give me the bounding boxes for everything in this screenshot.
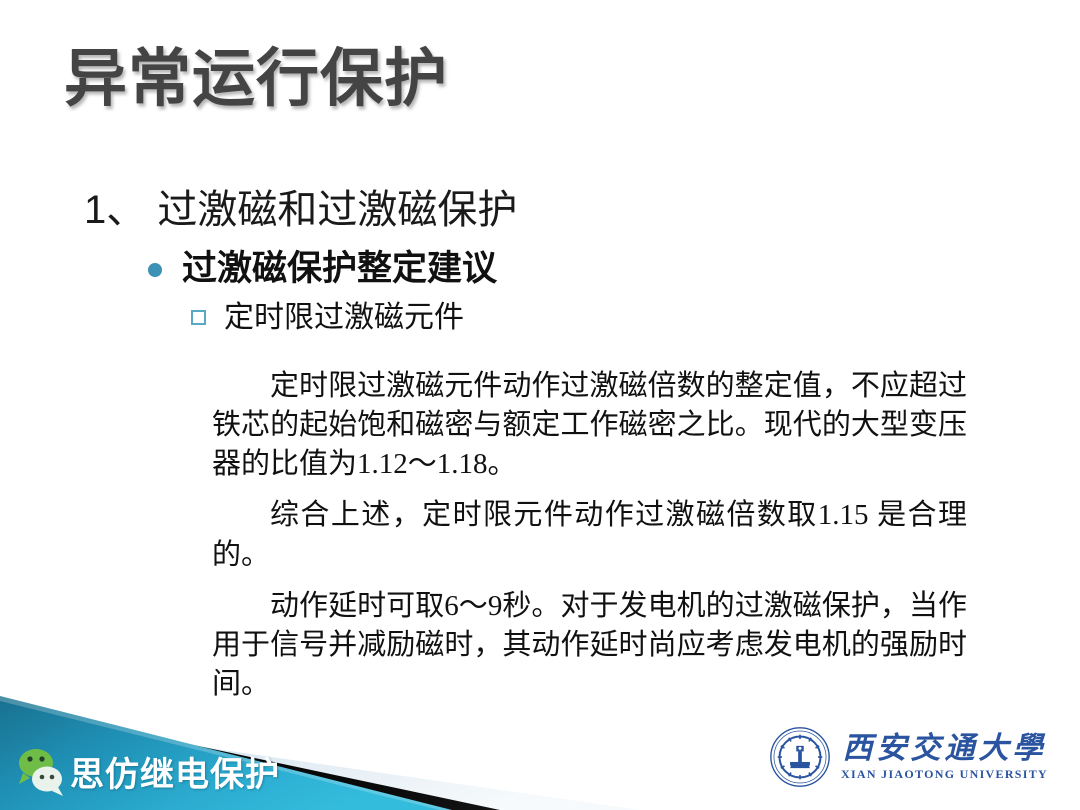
- outline-level2-label: 过激磁保护整定建议: [182, 249, 497, 288]
- outline-level2-item: 过激磁保护整定建议: [146, 247, 1080, 291]
- university-logo: 西安交通大學 XIAN JIAOTONG UNIVERSITY: [769, 726, 1048, 788]
- footer-brand-text: 思仿继电保护: [70, 747, 280, 796]
- bullet-dot-icon: [148, 263, 162, 277]
- wechat-icon: [14, 746, 72, 798]
- university-seal-icon: [769, 726, 831, 788]
- outline-level3-label: 定时限过激磁元件: [224, 301, 464, 334]
- wechat-icon-graphic: [14, 746, 72, 798]
- outline-level1-item: 1、 过激磁和过激磁保护: [84, 185, 1080, 235]
- slide-canvas: 异常运行保护 1、 过激磁和过激磁保护 过激磁保护整定建议 定时限过激磁元件 定…: [0, 0, 1080, 810]
- outline-body: 1、 过激磁和过激磁保护 过激磁保护整定建议 定时限过激磁元件: [0, 185, 1080, 336]
- paragraph-3: 动作延时可取6～9秒。对于发电机的过激磁保护，当作用于信号并减励磁时，其动作延时…: [212, 587, 967, 704]
- university-name-block: 西安交通大學 XIAN JIAOTONG UNIVERSITY: [841, 734, 1048, 780]
- university-name-en: XIAN JIAOTONG UNIVERSITY: [841, 768, 1048, 780]
- university-name-cn: 西安交通大學: [842, 734, 1046, 764]
- outline-level3-item: 定时限过激磁元件: [190, 299, 1080, 337]
- paragraph-2: 综合上述，定时限元件动作过激磁倍数取1.15 是合理的。: [212, 496, 967, 574]
- bullet-square-icon: [191, 310, 206, 325]
- body-paragraphs: 定时限过激磁元件动作过激磁倍数的整定值，不应超过铁芯的起始饱和磁密与额定工作磁密…: [212, 367, 967, 704]
- outline-level1-label: 1、 过激磁和过激磁保护: [84, 188, 517, 232]
- page-title: 异常运行保护: [64, 46, 448, 112]
- paragraph-1: 定时限过激磁元件动作过激磁倍数的整定值，不应超过铁芯的起始饱和磁密与额定工作磁密…: [212, 367, 967, 484]
